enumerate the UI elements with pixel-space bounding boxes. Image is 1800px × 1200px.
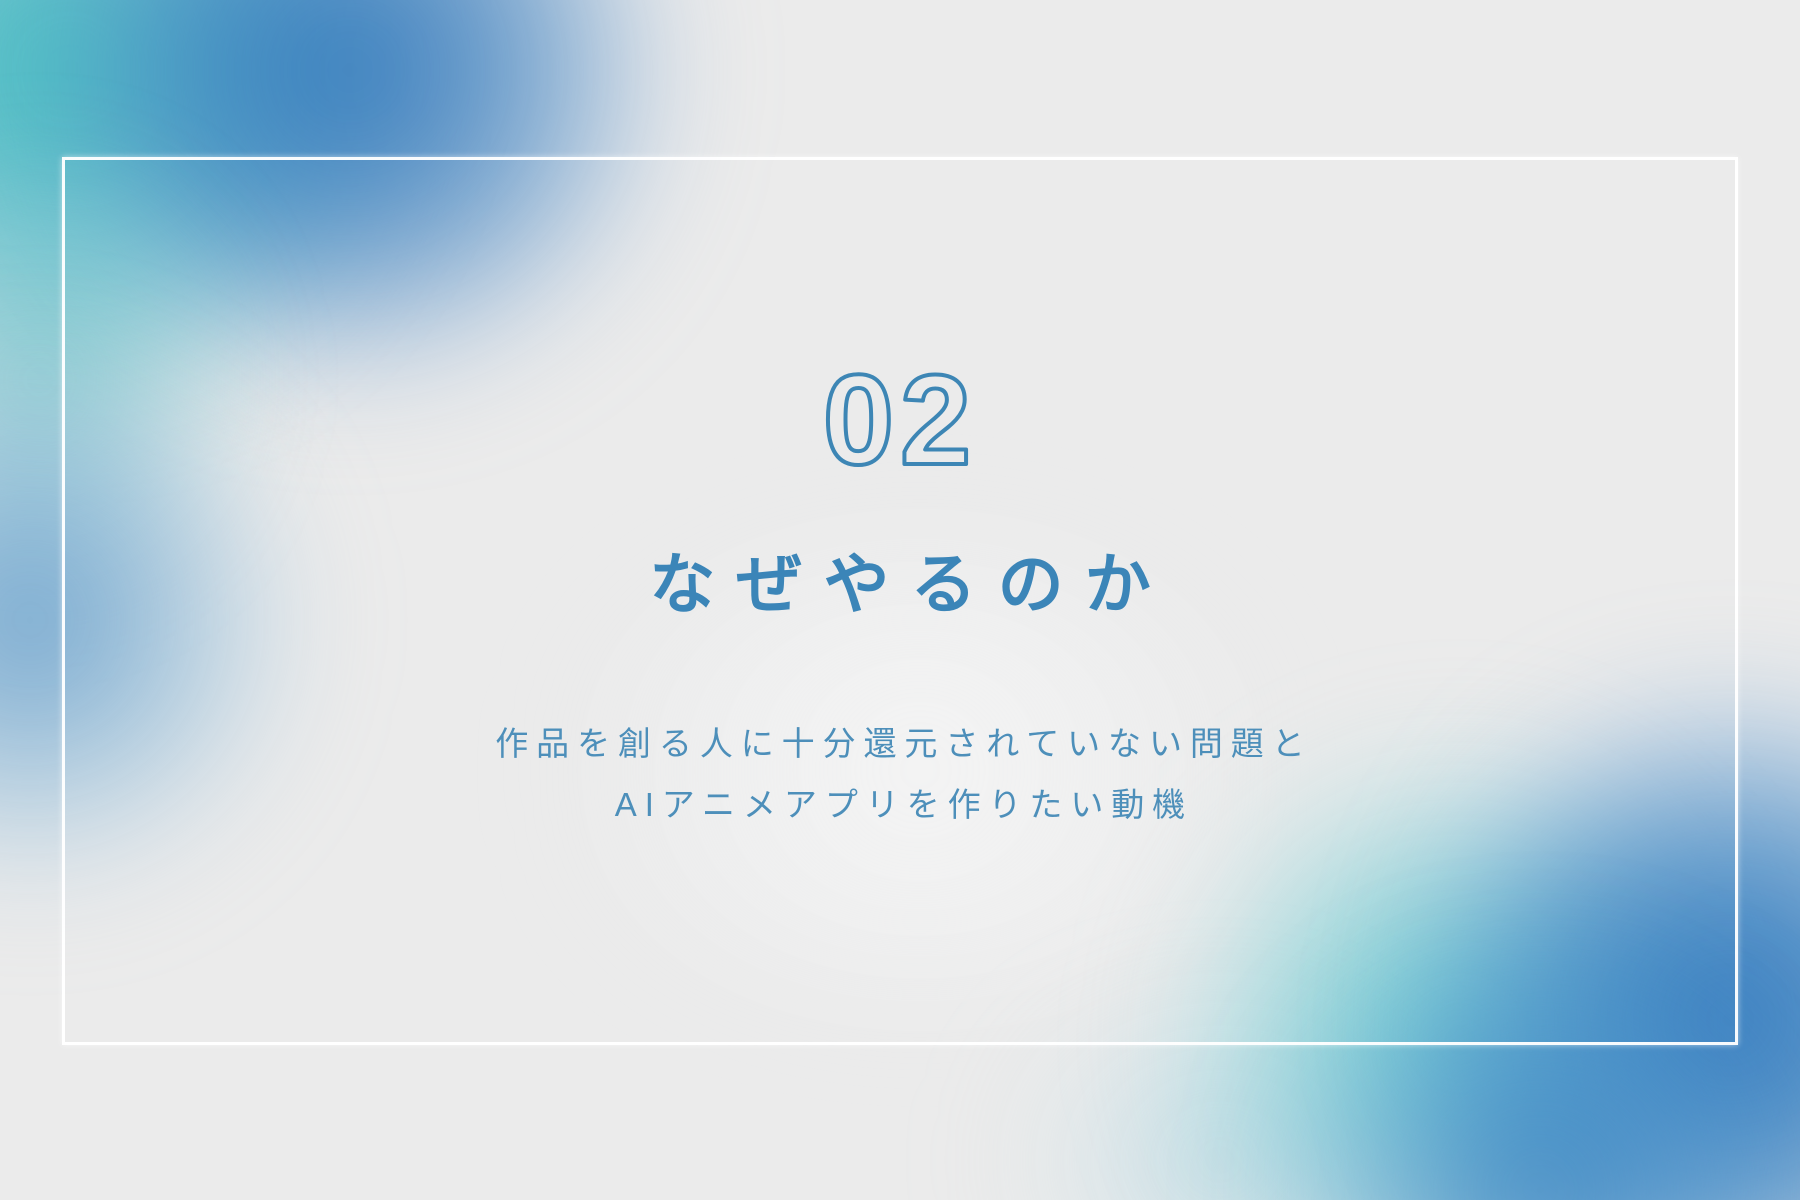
presentation-slide: 02 なぜやるのか 作品を創る人に十分還元されていない問題と AIアニメアプリを… — [0, 0, 1800, 1200]
section-subtitle-line-1: 作品を創る人に十分還元されていない問題と — [487, 713, 1312, 774]
section-subtitle-line-2: AIアニメアプリを作りたい動機 — [487, 774, 1312, 835]
slide-content: 02 なぜやるのか 作品を創る人に十分還元されていない問題と AIアニメアプリを… — [0, 0, 1800, 1200]
section-number-outline: 02 — [750, 365, 1050, 490]
section-number-text: 02 — [823, 365, 977, 490]
section-subtitle: 作品を創る人に十分還元されていない問題と AIアニメアプリを作りたい動機 — [487, 713, 1312, 835]
section-title: なぜやるのか — [628, 548, 1172, 622]
section-number-svg: 02 — [750, 365, 1050, 490]
